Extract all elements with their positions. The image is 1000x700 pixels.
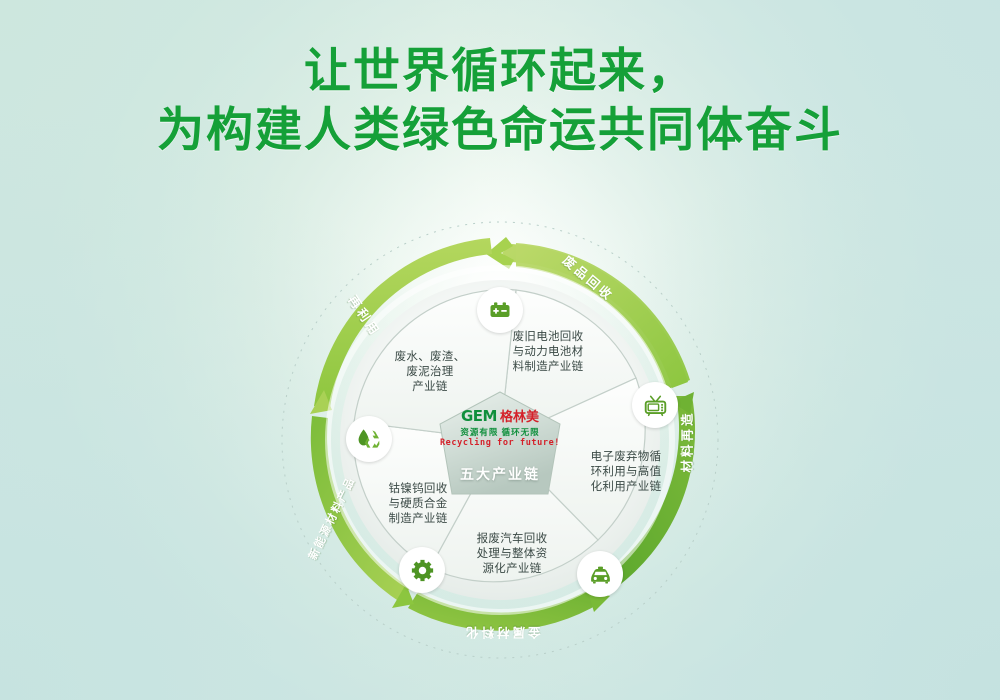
segment-label-cobalt-nickel-tungsten: 钴镍钨回收 与硬质合金 制造产业链 — [370, 482, 466, 527]
ring-label-metal-materialization: 金属材料化 — [463, 624, 541, 643]
battery-icon — [488, 298, 512, 322]
ring-label-material-remanufacture: 材料再造 — [677, 410, 696, 472]
center-subtitle: 五大产业链 — [425, 464, 575, 484]
logo-slogan-en: Recycling for future! — [425, 438, 575, 448]
icon-badge-gear[interactable] — [399, 547, 445, 593]
icon-badge-water-recycle[interactable] — [346, 416, 392, 462]
logo-gem-wordmark: GEM — [461, 407, 497, 425]
water-recycle-icon — [356, 426, 382, 452]
segment-label-scrap-vehicle: 报废汽车回收 处理与整体资 源化产业链 — [462, 532, 562, 577]
segment-label-wastewater: 废水、废渣、 废泥治理 产业链 — [380, 350, 480, 395]
logo-slogan-cn: 资源有限 循环无限 — [425, 426, 575, 438]
icon-badge-tv[interactable] — [632, 382, 678, 428]
headline-line-2: 为构建人类绿色命运共同体奋斗 — [0, 100, 1000, 160]
logo-row: GEM 格林美 — [425, 406, 575, 425]
segment-label-battery: 废旧电池回收 与动力电池材 料制造产业链 — [498, 330, 598, 375]
circular-industry-chain-diagram: 废品回收 材料再造 金属材料化 新能源材料产品 再利用 废旧电池回收 与动力电池… — [280, 210, 720, 670]
page-title: 让世界循环起来， 为构建人类绿色命运共同体奋斗 — [0, 42, 1000, 160]
headline-line-1: 让世界循环起来， — [0, 42, 1000, 100]
logo-chinese-name: 格林美 — [500, 406, 539, 425]
icon-badge-battery[interactable] — [477, 287, 523, 333]
segment-label-e-waste: 电子废弃物循 环利用与高值 化利用产业链 — [578, 450, 674, 495]
icon-badge-car[interactable] — [577, 551, 623, 597]
tv-icon — [643, 393, 668, 418]
center-brand-logo: GEM 格林美 资源有限 循环无限 Recycling for future! … — [425, 406, 575, 484]
car-icon — [588, 562, 613, 587]
gear-icon — [410, 558, 435, 583]
